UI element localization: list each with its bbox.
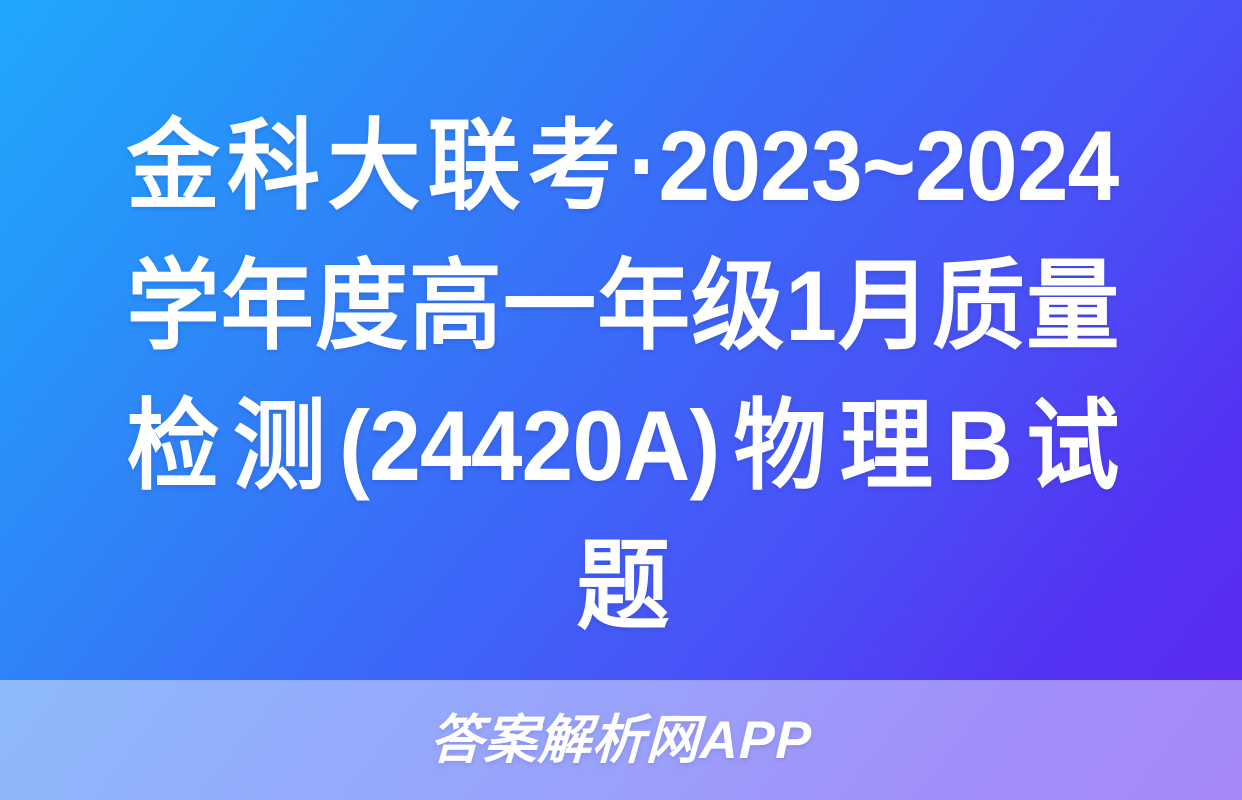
brand-watermark: 答案解析网APP bbox=[429, 714, 813, 767]
footer-brand-band: 答案解析网APP bbox=[0, 680, 1242, 800]
title-block: 金科大联考·2023~2024学年度高一年级1月质量检测(24420A)物理B试… bbox=[0, 96, 1242, 656]
exam-title-card: 金科大联考·2023~2024学年度高一年级1月质量检测(24420A)物理B试… bbox=[0, 0, 1242, 800]
page-title: 金科大联考·2023~2024学年度高一年级1月质量检测(24420A)物理B试… bbox=[127, 96, 1119, 656]
